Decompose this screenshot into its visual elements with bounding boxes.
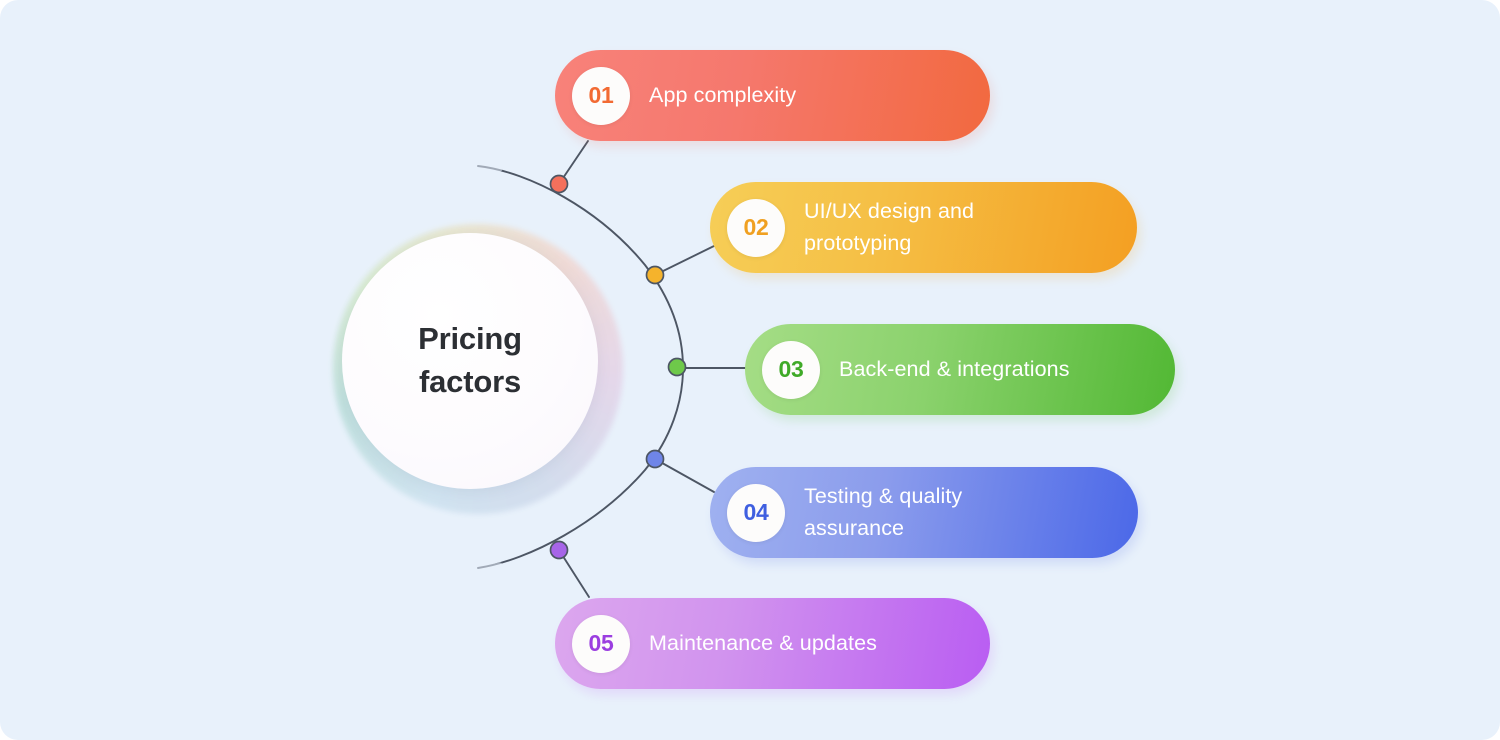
factor-item-05[interactable]: 05 Maintenance & updates (555, 598, 990, 689)
factor-number-badge-05: 05 (572, 615, 630, 673)
factor-label-05: Maintenance & updates (649, 628, 877, 660)
branch-line-04 (655, 459, 714, 492)
node-dot-01[interactable] (551, 176, 568, 193)
factor-item-03[interactable]: 03 Back-end & integrations (745, 324, 1175, 415)
branch-line-02 (655, 246, 714, 275)
page-title: Pricing factors (418, 318, 522, 404)
factor-label-03: Back-end & integrations (839, 354, 1070, 386)
factor-item-01[interactable]: 01 App complexity (555, 50, 990, 141)
factor-number-badge-04: 04 (727, 484, 785, 542)
arc-fade-bottom (473, 565, 500, 570)
infographic-canvas: Pricing factors 01 App complexity 02 UI/… (0, 0, 1500, 740)
arc-fade-top (473, 164, 500, 169)
factor-item-02[interactable]: 02 UI/UX design and prototyping (710, 182, 1137, 273)
factor-number-badge-02: 02 (727, 199, 785, 257)
factor-label-04: Testing & quality assurance (804, 481, 962, 545)
node-dot-04[interactable] (647, 451, 664, 468)
node-dot-03[interactable] (669, 359, 686, 376)
branch-line-01 (559, 141, 588, 184)
factor-item-04[interactable]: 04 Testing & quality assurance (710, 467, 1138, 558)
factor-number-badge-01: 01 (572, 67, 630, 125)
node-dot-05[interactable] (551, 542, 568, 559)
node-dot-02[interactable] (647, 267, 664, 284)
hub-circle: Pricing factors (342, 233, 598, 489)
factor-label-01: App complexity (649, 80, 796, 112)
factor-label-02: UI/UX design and prototyping (804, 196, 974, 260)
factor-number-badge-03: 03 (762, 341, 820, 399)
center-hub: Pricing factors (333, 224, 623, 514)
branch-line-05 (559, 550, 589, 597)
